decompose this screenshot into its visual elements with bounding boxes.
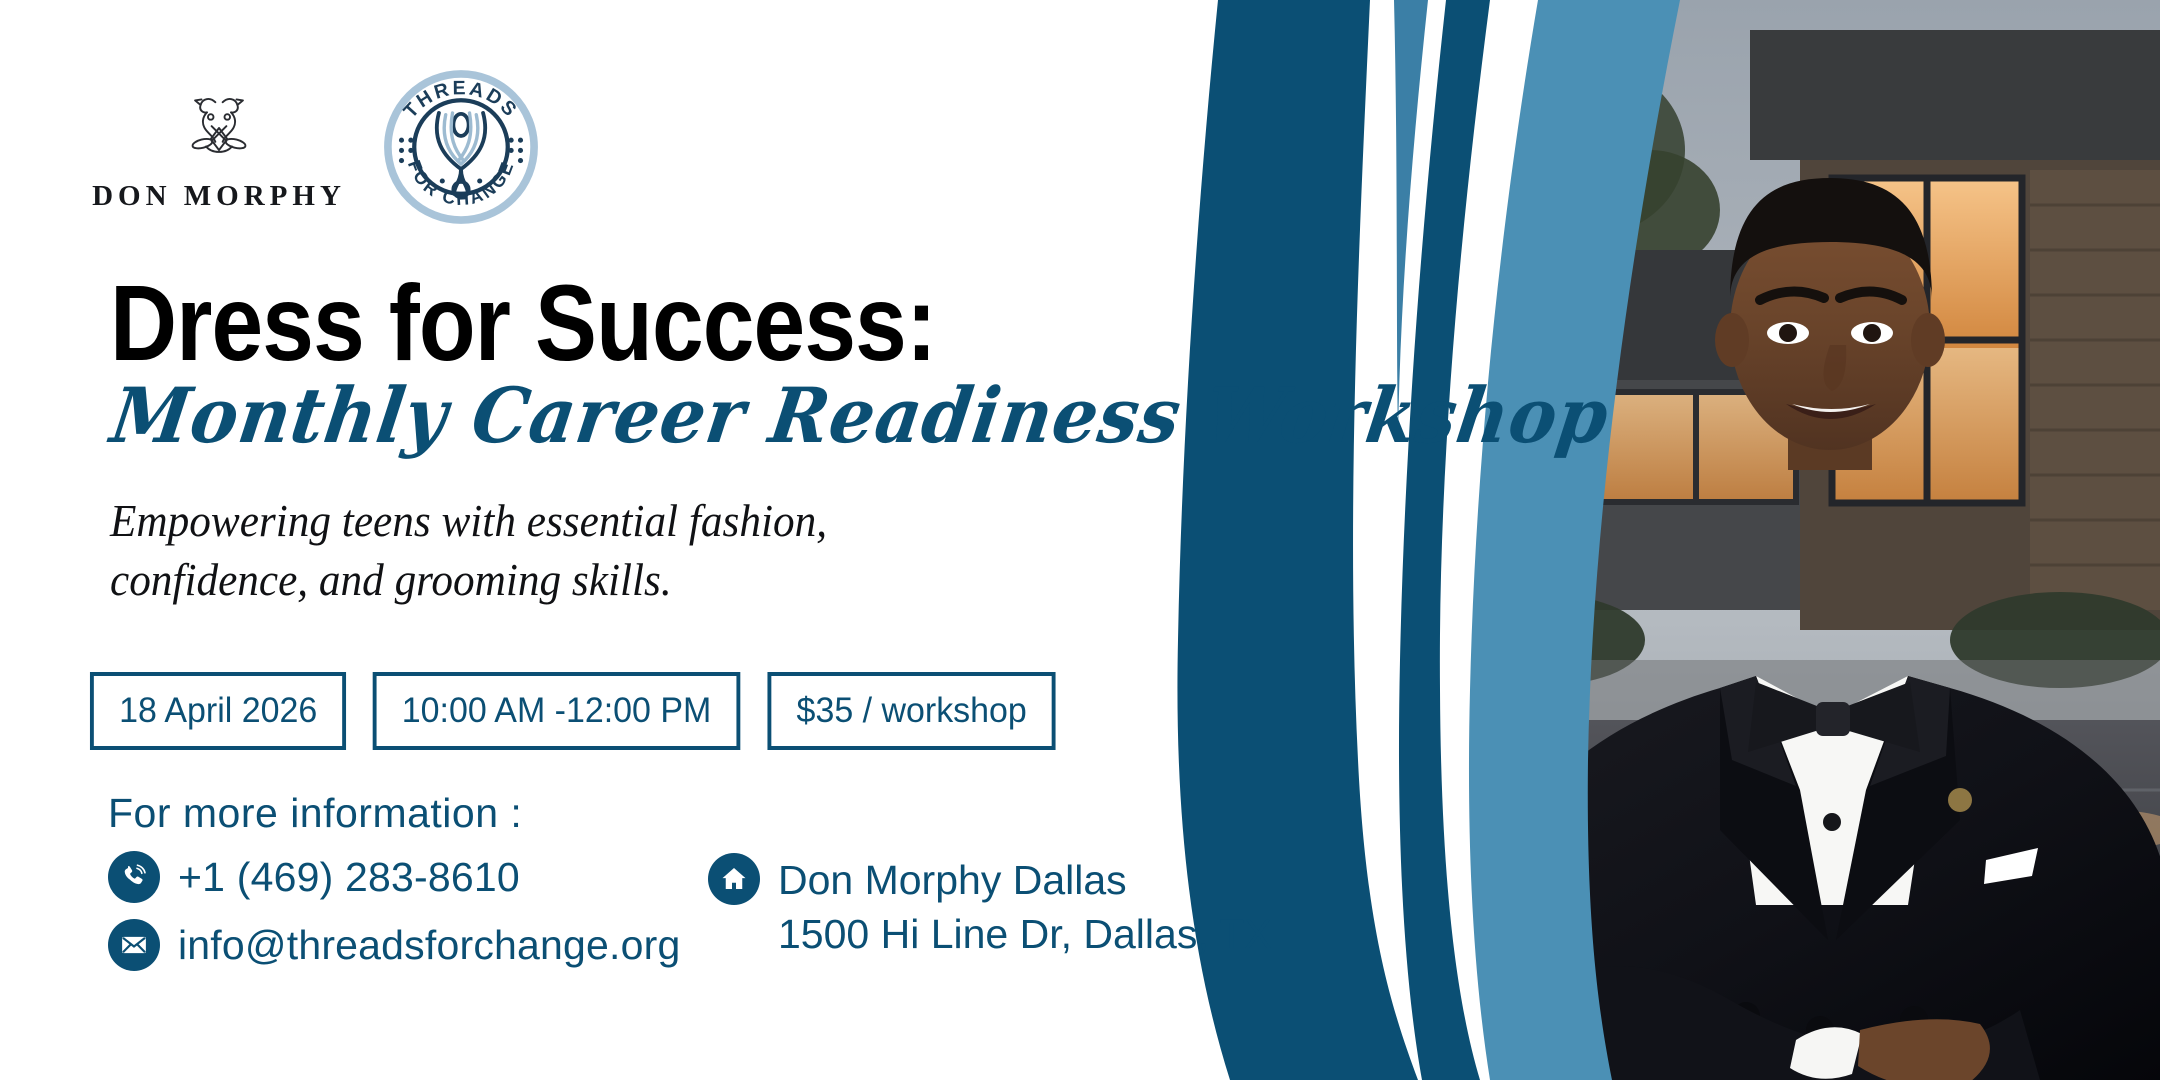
chip-price: $35 / workshop: [768, 672, 1056, 750]
venue-name: Don Morphy Dallas: [778, 857, 1127, 903]
contact-phone[interactable]: +1 (469) 283-8610: [108, 851, 708, 903]
contact-email[interactable]: info@threadsforchange.org: [108, 919, 708, 971]
venue-street: 1500 Hi Line Dr, Dallas, TX: [778, 911, 1272, 957]
detail-chips: 18 April 2026 10:00 AM -12:00 PM $35 / w…: [86, 672, 1061, 750]
phone-icon: [108, 851, 160, 903]
contact-block: For more information : +1 (469) 283-8610: [108, 790, 1272, 987]
logo-row: DON MORPHY: [106, 62, 546, 232]
page-title: Dress for Success:: [110, 268, 936, 378]
contact-location[interactable]: Don Morphy Dallas 1500 Hi Line Dr, Dalla…: [708, 853, 1272, 961]
chip-time: 10:00 AM -12:00 PM: [373, 672, 741, 750]
chip-date: 18 April 2026: [90, 672, 346, 750]
promo-banner: DON MORPHY: [0, 0, 2160, 1080]
phone-number: +1 (469) 283-8610: [178, 854, 520, 901]
content-column: DON MORPHY: [0, 0, 1260, 1080]
twin-seahorse-crest-icon: [173, 82, 265, 174]
email-address: info@threadsforchange.org: [178, 922, 681, 969]
don-morphy-logo: DON MORPHY: [106, 82, 332, 213]
artwork-panel: [1160, 0, 2160, 1080]
script-subtitle: Monthly Career Readiness Workshop: [107, 378, 1614, 454]
threads-for-change-logo: THREADS FOR CHANGE: [376, 62, 546, 232]
tagline: Empowering teens with essential fashion,…: [110, 492, 956, 610]
envelope-icon: [108, 919, 160, 971]
contact-heading: For more information :: [108, 790, 1272, 837]
home-icon: [708, 853, 760, 905]
don-morphy-wordmark: DON MORPHY: [92, 180, 346, 213]
